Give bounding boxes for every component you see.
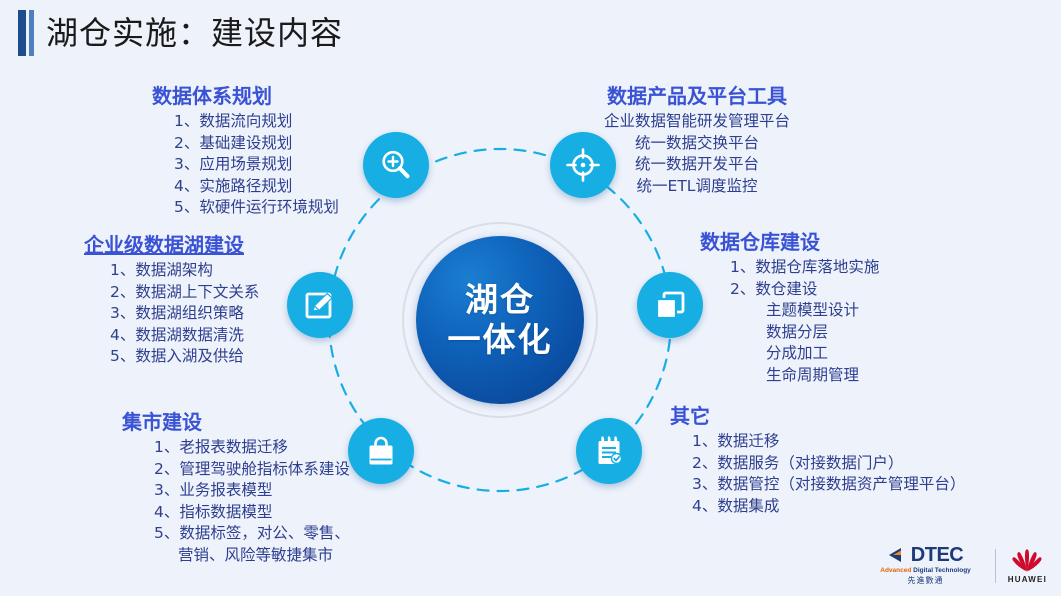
section-list: 1、老报表数据迁移 2、管理驾驶舱指标体系建设 3、业务报表模型 4、指标数据模… [122, 437, 350, 566]
section-heading: 数据仓库建设 [700, 230, 879, 254]
section-heading: 数据产品及平台工具 [604, 84, 790, 108]
dtec-tagline-advanced: Advanced [880, 567, 911, 574]
dtec-tagline-rest: Digital Technology [911, 567, 970, 574]
list-item: 1、数据流向规划 [174, 111, 339, 133]
list-item: 生命周期管理 [730, 365, 879, 387]
list-item: 3、数据湖组织策略 [110, 303, 259, 325]
list-item: 统一数据开发平台 [604, 154, 790, 176]
dtec-arrow-icon [888, 547, 910, 563]
list-item: 2、数仓建设 [730, 279, 879, 301]
list-item: 5、数据入湖及供给 [110, 346, 259, 368]
section-list: 1、数据流向规划 2、基础建设规划 3、应用场景规划 4、实施路径规划 5、软硬… [152, 111, 339, 219]
list-item: 2、数据服务（对接数据门户） [692, 453, 965, 475]
section-heading: 数据体系规划 [152, 84, 339, 108]
huawei-flower-icon [1010, 547, 1044, 573]
dtec-chinese-name: 先進數通 [908, 575, 944, 586]
list-item: 1、数据迁移 [692, 431, 965, 453]
list-item: 统一ETL调度监控 [604, 176, 790, 198]
section-list: 1、数据湖架构 2、数据湖上下文关系 3、数据湖组织策略 4、数据湖数据清洗 5… [84, 260, 259, 368]
section-list: 1、数据迁移 2、数据服务（对接数据门户） 3、数据管控（对接数据资产管理平台）… [670, 431, 965, 517]
zoom-in-icon [378, 147, 414, 183]
huawei-wordmark: HUAWEI [1008, 575, 1047, 584]
list-item: 数据分层 [730, 322, 879, 344]
dtec-logo: DTEC Advanced Digital Technology 先進數通 [880, 545, 983, 586]
list-item: 2、基础建设规划 [174, 133, 339, 155]
section-enterprise-data-lake: 企业级数据湖建设 1、数据湖架构 2、数据湖上下文关系 3、数据湖组织策略 4、… [84, 233, 259, 368]
list-item: 5、软硬件运行环境规划 [174, 197, 339, 219]
list-item: 2、数据湖上下文关系 [110, 282, 259, 304]
node-checklist-notepad-icon[interactable] [576, 418, 642, 484]
center-title-line-1: 湖仓 [465, 280, 535, 320]
list-item: 5、数据标签，对公、零售、 [154, 523, 350, 545]
list-item: 1、数据湖架构 [110, 260, 259, 282]
list-item: 2、管理驾驶舱指标体系建设 [154, 459, 350, 481]
section-data-warehouse: 数据仓库建设 1、数据仓库落地实施 2、数仓建设 主题模型设计 数据分层 分成加… [700, 230, 879, 386]
edit-pencil-square-icon [302, 287, 338, 323]
section-data-products-platform-tools: 数据产品及平台工具 企业数据智能研发管理平台 统一数据交换平台 统一数据开发平台… [604, 84, 790, 197]
node-copy-layers-icon[interactable] [637, 272, 703, 338]
center-hub: 湖仓 一体化 [416, 236, 584, 404]
list-item: 分成加工 [730, 343, 879, 365]
node-zoom-in-icon[interactable] [363, 132, 429, 198]
dtec-wordmark: DTEC [911, 545, 963, 565]
center-title-line-2: 一体化 [448, 320, 553, 360]
section-data-system-planning: 数据体系规划 1、数据流向规划 2、基础建设规划 3、应用场景规划 4、实施路径… [152, 84, 339, 219]
list-item: 统一数据交换平台 [604, 133, 790, 155]
list-item: 3、应用场景规划 [174, 154, 339, 176]
section-list: 1、数据仓库落地实施 2、数仓建设 主题模型设计 数据分层 分成加工 生命周期管… [700, 257, 879, 386]
crosshair-target-icon [565, 147, 601, 183]
section-heading: 集市建设 [122, 410, 350, 434]
node-edit-pencil-square-icon[interactable] [287, 272, 353, 338]
list-item: 4、指标数据模型 [154, 502, 350, 524]
list-item: 主题模型设计 [730, 300, 879, 322]
section-heading: 企业级数据湖建设 [84, 233, 259, 257]
list-item: 企业数据智能研发管理平台 [604, 111, 790, 133]
list-item: 3、业务报表模型 [154, 480, 350, 502]
list-item: 4、数据湖数据清洗 [110, 325, 259, 347]
section-list: 企业数据智能研发管理平台 统一数据交换平台 统一数据开发平台 统一ETL调度监控 [604, 111, 790, 197]
copy-layers-icon [652, 287, 688, 323]
list-item: 1、数据仓库落地实施 [730, 257, 879, 279]
section-heading: 其它 [670, 404, 965, 428]
huawei-logo: HUAWEI [1008, 547, 1047, 584]
shopping-bag-icon [363, 433, 399, 469]
checklist-notepad-icon [591, 433, 627, 469]
logo-divider [995, 549, 996, 583]
list-item: 1、老报表数据迁移 [154, 437, 350, 459]
list-item: 4、实施路径规划 [174, 176, 339, 198]
node-shopping-bag-icon[interactable] [348, 418, 414, 484]
section-data-mart: 集市建设 1、老报表数据迁移 2、管理驾驶舱指标体系建设 3、业务报表模型 4、… [122, 410, 350, 566]
section-other: 其它 1、数据迁移 2、数据服务（对接数据门户） 3、数据管控（对接数据资产管理… [670, 404, 965, 517]
list-item: 营销、风险等敏捷集市 [154, 545, 350, 567]
list-item: 3、数据管控（对接数据资产管理平台） [692, 474, 965, 496]
dtec-tagline: Advanced Digital Technology [880, 567, 971, 574]
footer-logos: DTEC Advanced Digital Technology 先進數通 HU… [880, 545, 1047, 586]
list-item: 4、数据集成 [692, 496, 965, 518]
